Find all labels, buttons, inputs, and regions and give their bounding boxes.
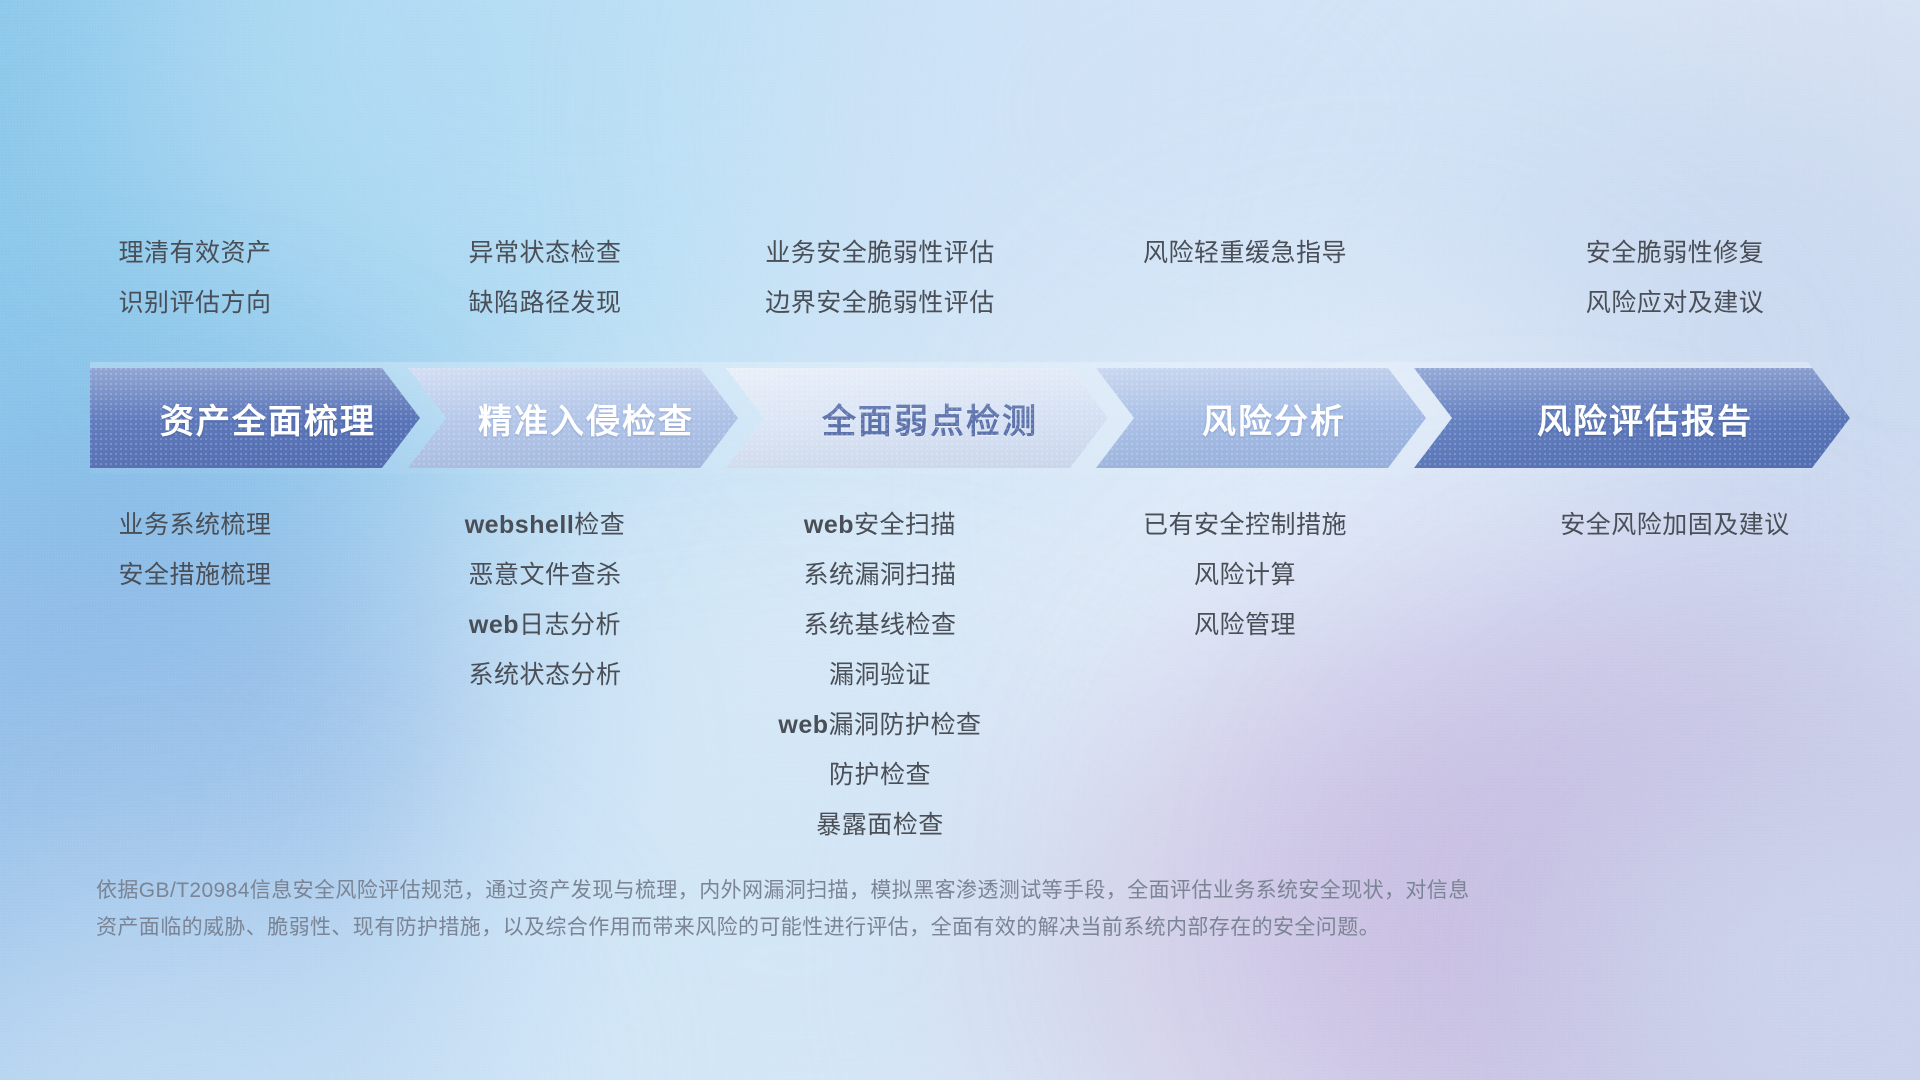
caption-item: 风险轻重缓急指导 [1143, 228, 1347, 278]
caption-item: 识别评估方向 [118, 278, 271, 328]
caption-item: 风险应对及建议 [1586, 278, 1765, 328]
caption-item: 边界安全脆弱性评估 [765, 278, 995, 328]
bottom-captions-risk-analysis: 已有安全控制措施风险计算风险管理 [1060, 500, 1430, 650]
caption-item: 风险管理 [1194, 600, 1296, 650]
caption-item: 暴露面检查 [816, 800, 944, 850]
caption-item: 风险计算 [1194, 550, 1296, 600]
stage-bottom-captions: 业务系统梳理安全措施梳理 webshell检查恶意文件查杀web日志分析系统状态… [0, 500, 1920, 850]
caption-item-emphasis: web [778, 711, 828, 739]
stage-label: 风险评估报告 [1511, 394, 1753, 443]
caption-item-emphasis: web [469, 611, 519, 639]
top-captions-weakness-detection: 业务安全脆弱性评估 边界安全脆弱性评估 [700, 228, 1060, 328]
stage-chevron-assessment-report[interactable]: 风险评估报告 [1414, 368, 1850, 468]
caption-item: web安全扫描 [804, 500, 956, 550]
caption-item: 系统基线检查 [803, 600, 956, 650]
caption-item: 已有安全控制措施 [1143, 500, 1347, 550]
bottom-captions-intrusion-check: webshell检查恶意文件查杀web日志分析系统状态分析 [390, 500, 700, 700]
stage-label: 全面弱点检测 [796, 394, 1038, 443]
caption-item: 安全风险加固及建议 [1560, 500, 1790, 550]
footer-description: 依据GB/T20984信息安全风险评估规范，通过资产发现与梳理，内外网漏洞扫描，… [96, 872, 1656, 946]
stage-label: 风险分析 [1176, 394, 1346, 443]
caption-item-emphasis: web [804, 511, 854, 539]
stage-chevron-asset-inventory[interactable]: 资产全面梳理 [90, 368, 420, 468]
caption-item: web漏洞防护检查 [778, 700, 981, 750]
caption-item: 安全措施梳理 [118, 550, 271, 600]
caption-item: 安全脆弱性修复 [1586, 228, 1765, 278]
caption-item: 业务安全脆弱性评估 [765, 228, 995, 278]
caption-item: 异常状态检查 [468, 228, 621, 278]
caption-item: 系统状态分析 [468, 650, 621, 700]
caption-item: web日志分析 [469, 600, 621, 650]
bottom-captions-asset-inventory: 业务系统梳理安全措施梳理 [0, 500, 390, 600]
footer-line: 资产面临的威胁、脆弱性、现有防护措施，以及综合作用而带来风险的可能性进行评估，全… [96, 909, 1656, 946]
stage-chevron-risk-analysis[interactable]: 风险分析 [1096, 368, 1426, 468]
caption-item: 缺陷路径发现 [468, 278, 621, 328]
caption-item: 漏洞验证 [829, 650, 931, 700]
top-captions-intrusion-check: 异常状态检查 缺陷路径发现 [390, 228, 700, 328]
caption-item: 理清有效资产 [118, 228, 271, 278]
bottom-captions-assessment-report: 安全风险加固及建议 [1430, 500, 1920, 550]
top-captions-risk-analysis: 风险轻重缓急指导 [1060, 228, 1430, 328]
stage-top-captions: 理清有效资产 识别评估方向 异常状态检查 缺陷路径发现 业务安全脆弱性评估 边界… [0, 228, 1920, 328]
top-captions-asset-inventory: 理清有效资产 识别评估方向 [0, 228, 390, 328]
process-flow-diagram: 理清有效资产 识别评估方向 异常状态检查 缺陷路径发现 业务安全脆弱性评估 边界… [0, 0, 1920, 1080]
caption-item-emphasis: webshell [465, 511, 575, 539]
caption-item: webshell检查 [465, 500, 626, 550]
caption-item: 系统漏洞扫描 [803, 550, 956, 600]
caption-item: 防护检查 [829, 750, 931, 800]
chevron-banner: 资产全面梳理 精准入侵检查 全面弱点检测 风险分析 风险评估报告 [90, 368, 1850, 468]
stage-label: 资产全面梳理 [134, 394, 376, 443]
stage-chevron-weakness-detection[interactable]: 全面弱点检测 [726, 368, 1108, 468]
stage-label: 精准入侵检查 [452, 394, 694, 443]
stage-chevron-intrusion-check[interactable]: 精准入侵检查 [408, 368, 738, 468]
caption-item: 恶意文件查杀 [468, 550, 621, 600]
footer-line: 依据GB/T20984信息安全风险评估规范，通过资产发现与梳理，内外网漏洞扫描，… [96, 872, 1656, 909]
caption-item: 业务系统梳理 [118, 500, 271, 550]
top-captions-assessment-report: 安全脆弱性修复 风险应对及建议 [1430, 228, 1920, 328]
bottom-captions-weakness-detection: web安全扫描系统漏洞扫描系统基线检查漏洞验证web漏洞防护检查防护检查暴露面检… [700, 500, 1060, 850]
